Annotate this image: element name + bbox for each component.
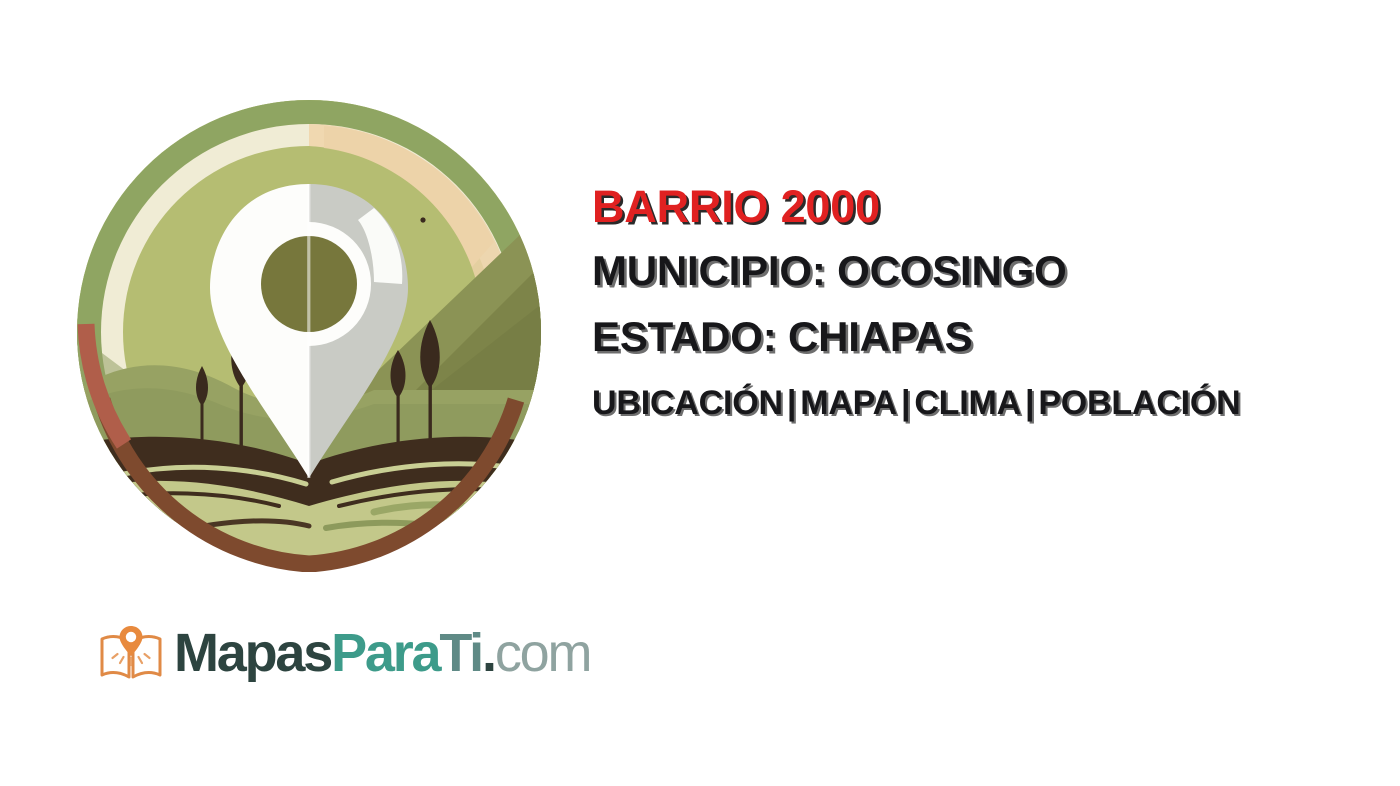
municipio-label: MUNICIPIO: OCOSINGO <box>592 242 1382 300</box>
section-separator: | <box>1021 384 1038 422</box>
section-separator: | <box>897 384 914 422</box>
brand-part-mapas: Mapas <box>174 623 331 683</box>
brand-part-para: Para <box>331 623 439 683</box>
info-panel: BARRIO 2000 MUNICIPIO: OCOSINGO ESTADO: … <box>592 178 1382 428</box>
brand-part-dot: . <box>482 623 495 683</box>
section-link-clima[interactable]: CLIMA <box>914 384 1021 422</box>
emblem-container <box>74 92 544 572</box>
section-separator: | <box>783 384 800 422</box>
brand-wordmark: MapasParaTi.com <box>174 626 590 680</box>
section-link-poblacion[interactable]: POBLACIÓN <box>1038 384 1240 422</box>
brand-part-com: com <box>495 623 590 683</box>
open-book-with-location-pin-icon <box>98 622 164 684</box>
page-title: BARRIO 2000 <box>592 178 1382 236</box>
section-link-ubicacion[interactable]: UBICACIÓN <box>592 384 783 422</box>
info-card: BARRIO 2000 MUNICIPIO: OCOSINGO ESTADO: … <box>0 0 1400 786</box>
landscape-location-pin-emblem <box>74 92 544 572</box>
brand-logo[interactable]: MapasParaTi.com <box>98 616 590 690</box>
brand-part-ti: Ti <box>439 623 482 683</box>
section-links: UBICACIÓN|MAPA|CLIMA|POBLACIÓN <box>592 378 1382 428</box>
estado-label: ESTADO: CHIAPAS <box>592 308 1382 366</box>
section-link-mapa[interactable]: MAPA <box>800 384 897 422</box>
